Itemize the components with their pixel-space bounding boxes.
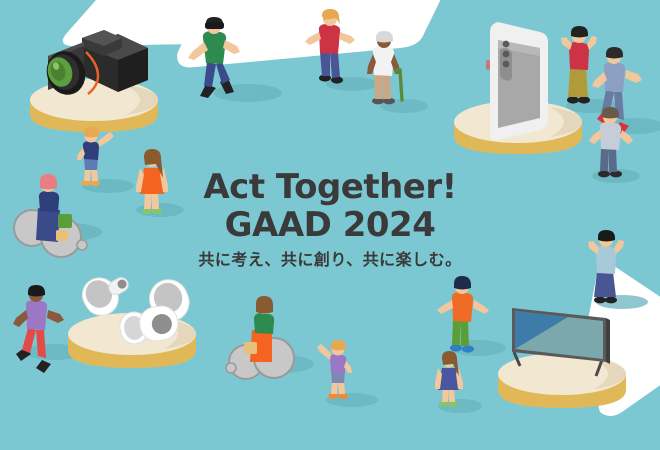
person-red-shirt-walking <box>305 9 355 84</box>
person-orange-dress <box>136 149 168 214</box>
person-wheelchair-green-shirt <box>226 296 294 379</box>
person-lightblue-navy-skirt <box>588 230 624 303</box>
person-wheelchair-pink-hair <box>14 174 87 257</box>
child-purple-shirt-waving <box>317 340 352 399</box>
people-layer <box>0 0 660 450</box>
person-red-top-olive-skirt <box>561 26 597 104</box>
person-purple-shirt-running <box>13 285 64 373</box>
person-bluegrey-shirt-running <box>592 47 642 135</box>
child-navy-shirt-waving <box>77 127 114 186</box>
person-grey-shirt-walking <box>589 107 633 177</box>
person-elderly-with-cane <box>367 31 402 104</box>
gaad-2024-poster: Act Together! GAAD 2024 共に考え、共に創り、共に楽しむ。 <box>0 0 660 450</box>
person-orange-shirt-green-pants <box>437 276 489 353</box>
person-vr-headset-green <box>188 17 240 98</box>
person-blue-dress <box>435 351 463 407</box>
